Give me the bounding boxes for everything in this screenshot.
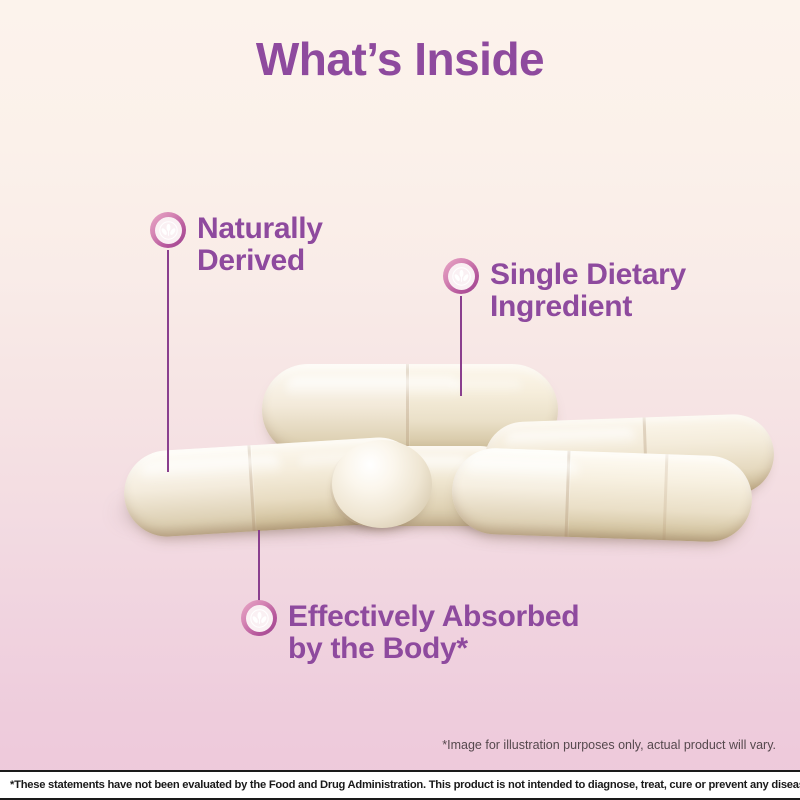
feature-label: Naturally Derived xyxy=(197,212,323,278)
whats-inside-infographic: What’s Inside xyxy=(0,0,800,800)
capsule-front-center-cap xyxy=(332,440,432,528)
leaf-badge-icon xyxy=(443,258,479,294)
feature-single-dietary-ingredient: Single Dietary Ingredient xyxy=(443,258,686,324)
feature-naturally-derived: Naturally Derived xyxy=(150,212,323,278)
leader-line-effectively-absorbed xyxy=(258,530,260,608)
feature-label: Effectively Absorbed by the Body* xyxy=(288,600,579,666)
leader-line-naturally-derived xyxy=(167,250,169,472)
fda-disclaimer-text: *These statements have not been evaluate… xyxy=(0,779,800,791)
feature-effectively-absorbed: Effectively Absorbed by the Body* xyxy=(241,600,579,666)
leaf-badge-icon xyxy=(150,212,186,248)
feature-label: Single Dietary Ingredient xyxy=(490,258,686,324)
fda-disclaimer-bar: *These statements have not been evaluate… xyxy=(0,770,800,800)
page-title: What’s Inside xyxy=(0,32,800,86)
leaf-badge-icon xyxy=(241,600,277,636)
image-disclaimer: *Image for illustration purposes only, a… xyxy=(442,738,776,752)
capsule-right-front xyxy=(451,447,754,543)
capsule-product-image xyxy=(0,340,800,570)
